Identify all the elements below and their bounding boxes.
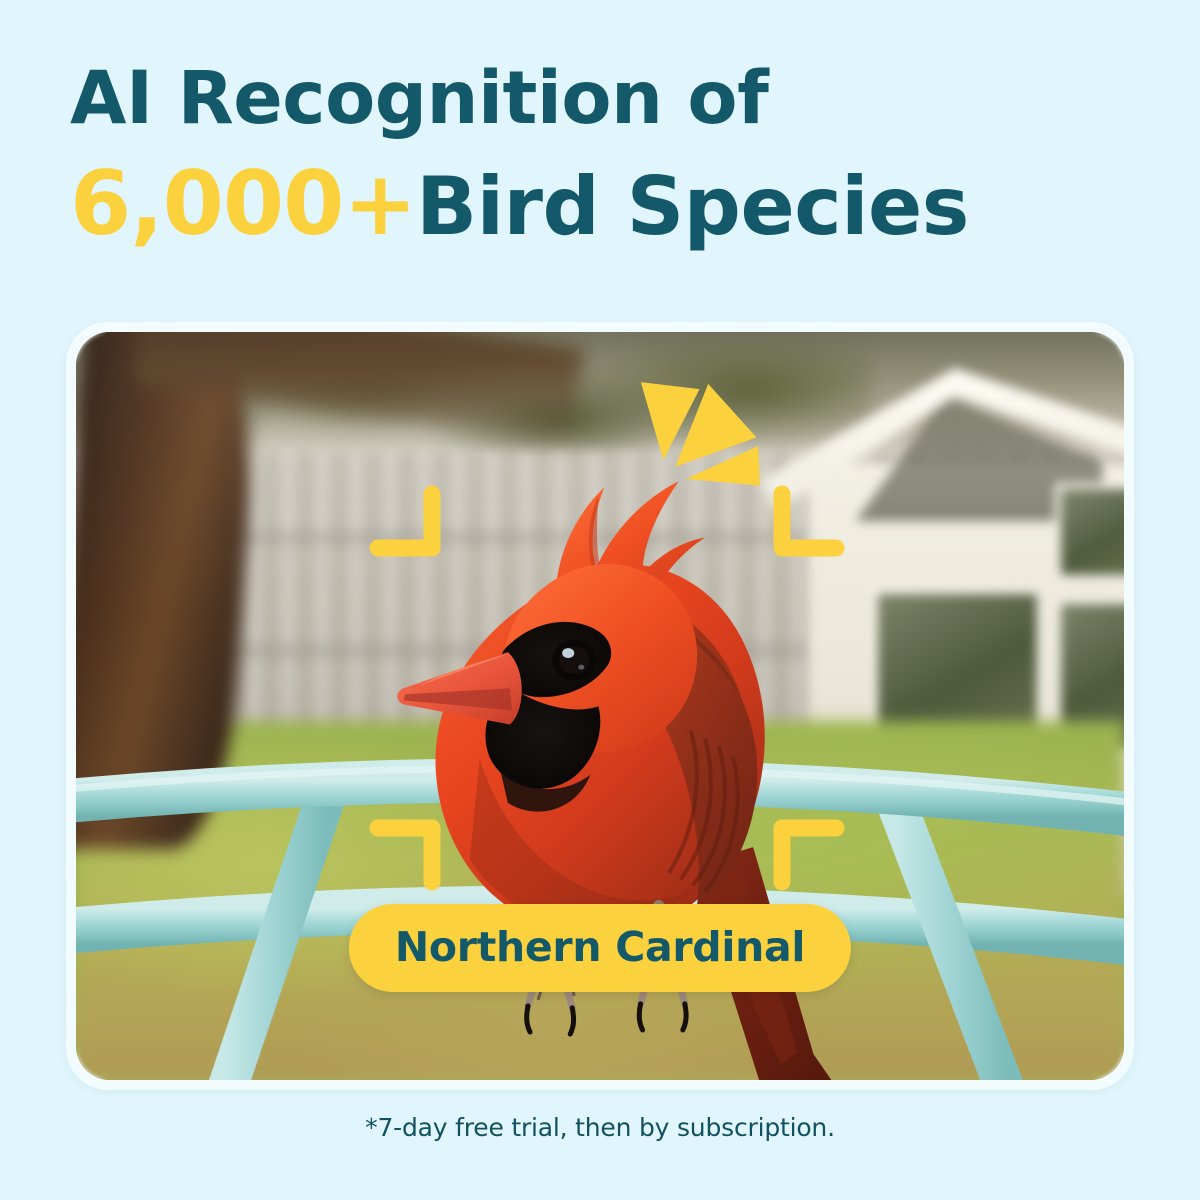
footnote-text: *7-day free trial, then by subscription.	[0, 1113, 1200, 1142]
bird-photo[interactable]: Northern Cardinal	[76, 332, 1124, 1080]
headline-line-2: 6,000+Bird Species	[70, 160, 1130, 248]
page-title: AI Recognition of 6,000+Bird Species	[70, 62, 1130, 248]
photo-card[interactable]: Northern Cardinal	[66, 322, 1134, 1090]
species-count: 6,000+	[70, 152, 416, 255]
headline-line-2-rest: Bird Species	[416, 160, 969, 253]
sparkle-icon	[621, 377, 768, 489]
headline-line-1: AI Recognition of	[70, 62, 1130, 135]
status-badge[interactable]: Northern Cardinal	[349, 904, 851, 992]
